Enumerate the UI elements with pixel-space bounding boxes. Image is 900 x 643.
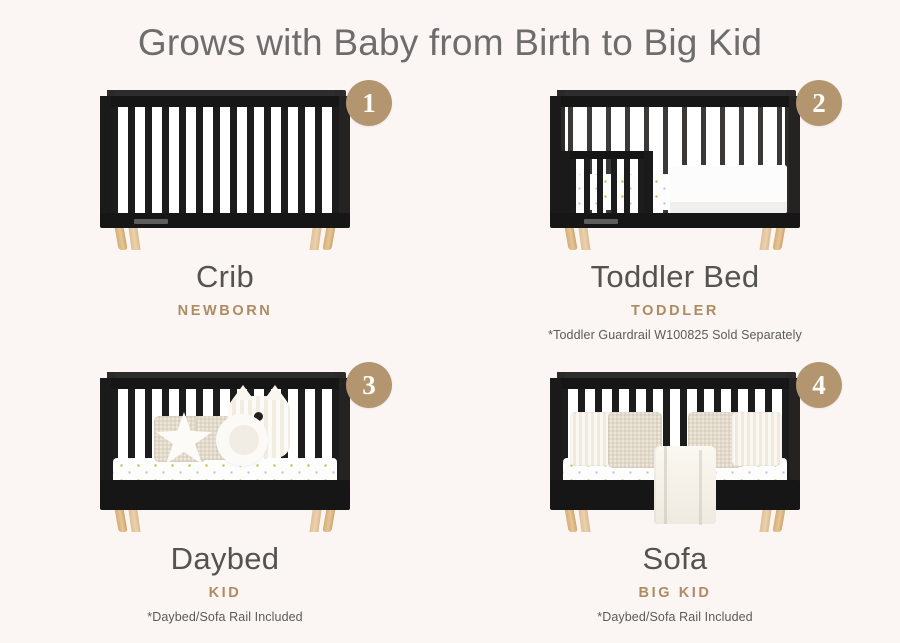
config-note: *Daybed/Sofa Rail Included — [0, 610, 450, 624]
sofa-leg-back-left — [578, 510, 590, 532]
infographic-page: Grows with Baby from Birth to Big Kid 1 — [0, 0, 900, 643]
guardrail-top-rail — [561, 151, 653, 159]
daybed-frame — [100, 372, 350, 510]
crib-side-post-left — [100, 96, 111, 224]
crib-front-slats — [111, 107, 339, 213]
step-badge-3: 3 — [346, 362, 392, 408]
crib-leg-back-left — [128, 228, 140, 250]
daybed-leg-back-right — [309, 510, 321, 532]
panel-sofa: 4 — [450, 364, 900, 542]
panel-crib: 1 — [0, 82, 450, 260]
crib-side-post-right — [339, 96, 350, 224]
config-stage: KID — [0, 585, 450, 601]
sofa-illustration — [550, 372, 800, 532]
config-note: *Toddler Guardrail W100825 Sold Separate… — [450, 328, 900, 342]
config-title: Daybed — [0, 542, 450, 576]
throw-pillow-4 — [732, 412, 782, 466]
toddler-top-rail — [550, 96, 800, 107]
throw-blanket — [654, 446, 716, 524]
page-title: Grows with Baby from Birth to Big Kid — [0, 22, 900, 64]
caption-crib: Crib NEWBORN — [0, 260, 450, 319]
config-stage: NEWBORN — [0, 303, 450, 319]
moon-pillow — [216, 414, 268, 466]
toddler-bed-frame — [550, 90, 800, 228]
crib-frame — [100, 90, 350, 228]
panel-daybed: 3 — [0, 364, 450, 542]
daybed-leg-back-left — [128, 510, 140, 532]
panel-toddler-bed: 2 — [450, 82, 900, 260]
toddler-bed-illustration — [550, 90, 800, 250]
toddler-leg-back-right — [759, 228, 771, 250]
step-badge-1: 1 — [346, 80, 392, 126]
config-title: Sofa — [450, 542, 900, 576]
step-badge-4: 4 — [796, 362, 842, 408]
sofa-frame — [550, 372, 800, 510]
brand-logo-plate — [584, 219, 618, 224]
config-stage: TODDLER — [450, 303, 900, 319]
toddler-leg-back-left — [578, 228, 590, 250]
brand-logo-plate — [134, 219, 168, 224]
caption-sofa: Sofa BIG KID *Daybed/Sofa Rail Included — [450, 542, 900, 624]
config-title: Toddler Bed — [450, 260, 900, 294]
config-title: Crib — [0, 260, 450, 294]
daybed-front-rail — [100, 480, 350, 510]
toddler-side-post-right — [789, 96, 800, 224]
sofa-top-rail — [550, 378, 800, 389]
caption-daybed: Daybed KID *Daybed/Sofa Rail Included — [0, 542, 450, 624]
product-image-toddler-bed: 2 — [450, 82, 900, 260]
guardrail-slats — [570, 159, 644, 213]
crib-top-rail — [100, 96, 350, 107]
sofa-leg-back-right — [759, 510, 771, 532]
caption-toddler-bed: Toddler Bed TODDLER *Toddler Guardrail W… — [450, 260, 900, 342]
product-image-crib: 1 — [0, 82, 450, 260]
toddler-open-mattress — [670, 165, 787, 213]
daybed-top-rail — [100, 378, 350, 389]
crib-illustration — [100, 90, 350, 250]
product-image-daybed: 3 — [0, 364, 450, 542]
crib-leg-back-right — [309, 228, 321, 250]
toddler-guardrail — [561, 151, 653, 213]
guardrail-post-right — [644, 151, 653, 213]
config-note: *Daybed/Sofa Rail Included — [450, 610, 900, 624]
step-badge-2: 2 — [796, 80, 842, 126]
toddler-side-post-left — [550, 96, 561, 224]
config-stage: BIG KID — [450, 585, 900, 601]
guardrail-post-left — [561, 151, 570, 213]
product-image-sofa: 4 — [450, 364, 900, 542]
daybed-illustration — [100, 372, 350, 532]
